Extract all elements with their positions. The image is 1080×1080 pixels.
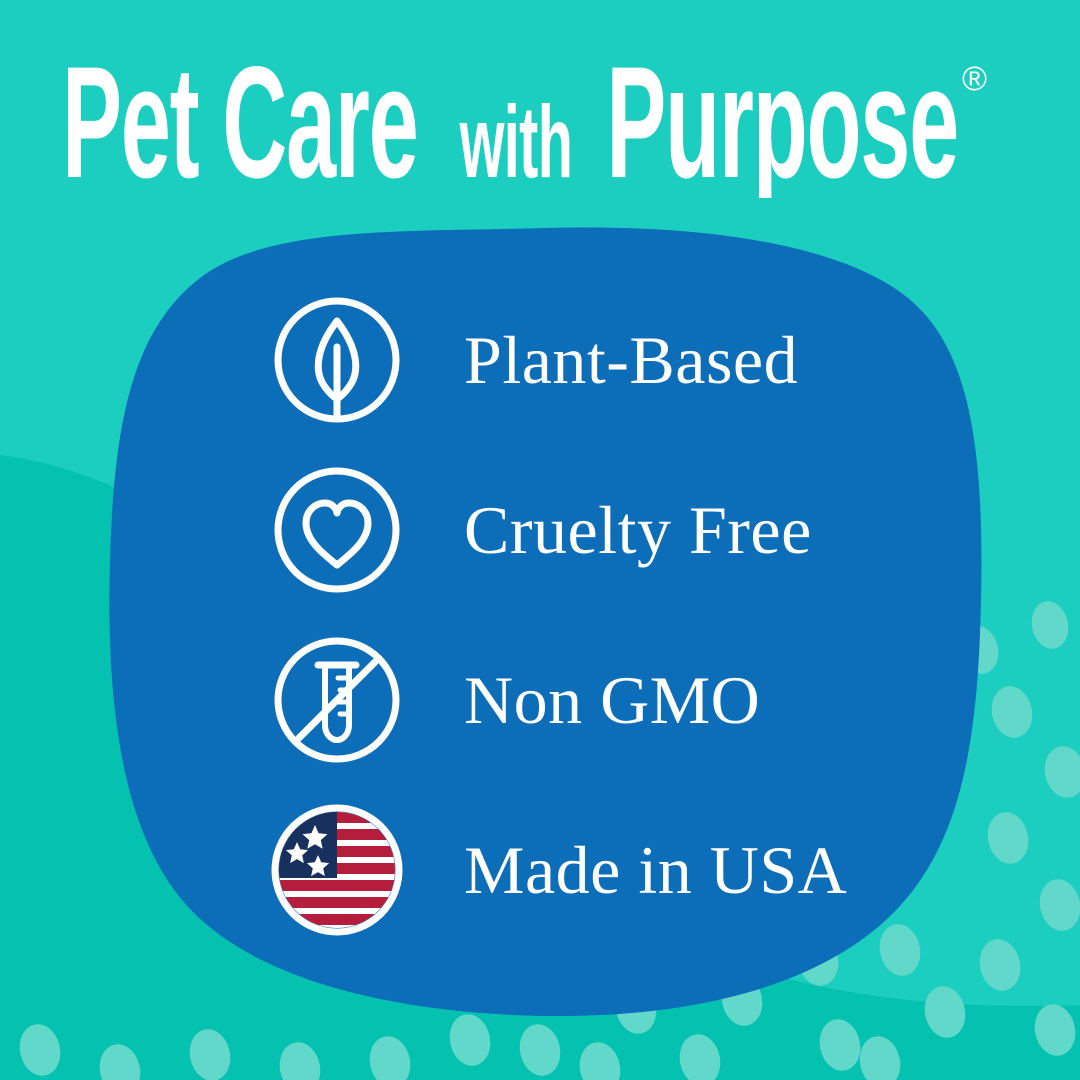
feature-label: Cruelty Free <box>464 496 812 564</box>
feature-item-plant-based: Plant-Based <box>270 275 970 445</box>
feature-label: Non GMO <box>464 666 760 734</box>
feature-label: Made in USA <box>464 836 847 904</box>
usa-flag-icon <box>270 803 404 937</box>
no-test-tube-icon <box>270 633 404 767</box>
promo-graphic: Pet Care with Purpose ® Plant-Based Crue… <box>0 0 1080 1080</box>
leaf-circle-icon <box>270 293 404 427</box>
feature-item-cruelty-free: Cruelty Free <box>270 445 970 615</box>
feature-item-made-in-usa: Made in USA <box>270 785 970 955</box>
heart-circle-icon <box>270 463 404 597</box>
feature-label: Plant-Based <box>464 326 798 394</box>
feature-list: Plant-Based Cruelty Free <box>270 275 970 955</box>
feature-item-non-gmo: Non GMO <box>270 615 970 785</box>
